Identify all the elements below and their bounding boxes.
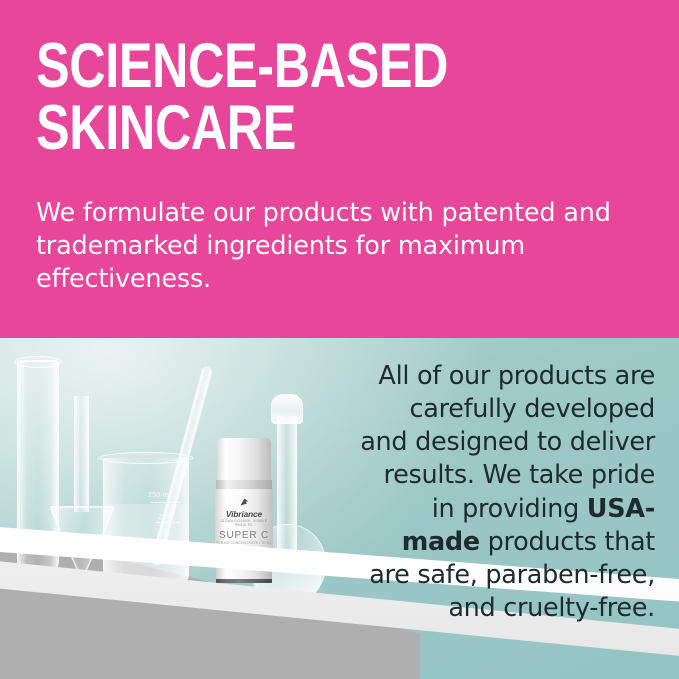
beaker-graduation-mark [156,522,180,523]
body-copy-text: All of our products are carefully develo… [355,360,655,625]
page-title: SCIENCE-BASED SKINCARE [36,36,636,159]
beaker-graduation-label: 200 [158,514,171,521]
funnel-stem [74,396,89,512]
headline-line-1: SCIENCE-BASED [36,36,516,98]
test-tube-rim [14,356,62,368]
headline-line-2: SKINCARE [36,98,516,160]
flask-neck [277,416,297,556]
bottle-collar [216,480,272,489]
bottom-teal-panel: 250 ml 200 100 Vibriance [0,338,679,679]
bottle-brand-name: Vibriance [215,509,273,519]
vibriance-logo-icon [239,497,250,508]
beaker-graduation-mark [150,502,180,503]
science-based-skincare-banner: SCIENCE-BASED SKINCARE We formulate our … [0,0,679,679]
beaker-rim [99,452,193,464]
bottle-tagline: CLEAN SCIENCE. VISIBLE RESULTS. [215,519,273,527]
beaker-graduation-label: 250 ml [148,492,171,499]
bottle-product-name: SUPER C [215,530,273,541]
flask-stopper [271,394,303,424]
top-pink-panel: SCIENCE-BASED SKINCARE We formulate our … [0,0,679,338]
bottle-cap [217,438,271,480]
subheading-text: We formulate our products with patented … [36,197,646,296]
bottle-base-ring [216,579,272,583]
bottle-label: Vibriance CLEAN SCIENCE. VISIBLE RESULTS… [215,489,273,549]
